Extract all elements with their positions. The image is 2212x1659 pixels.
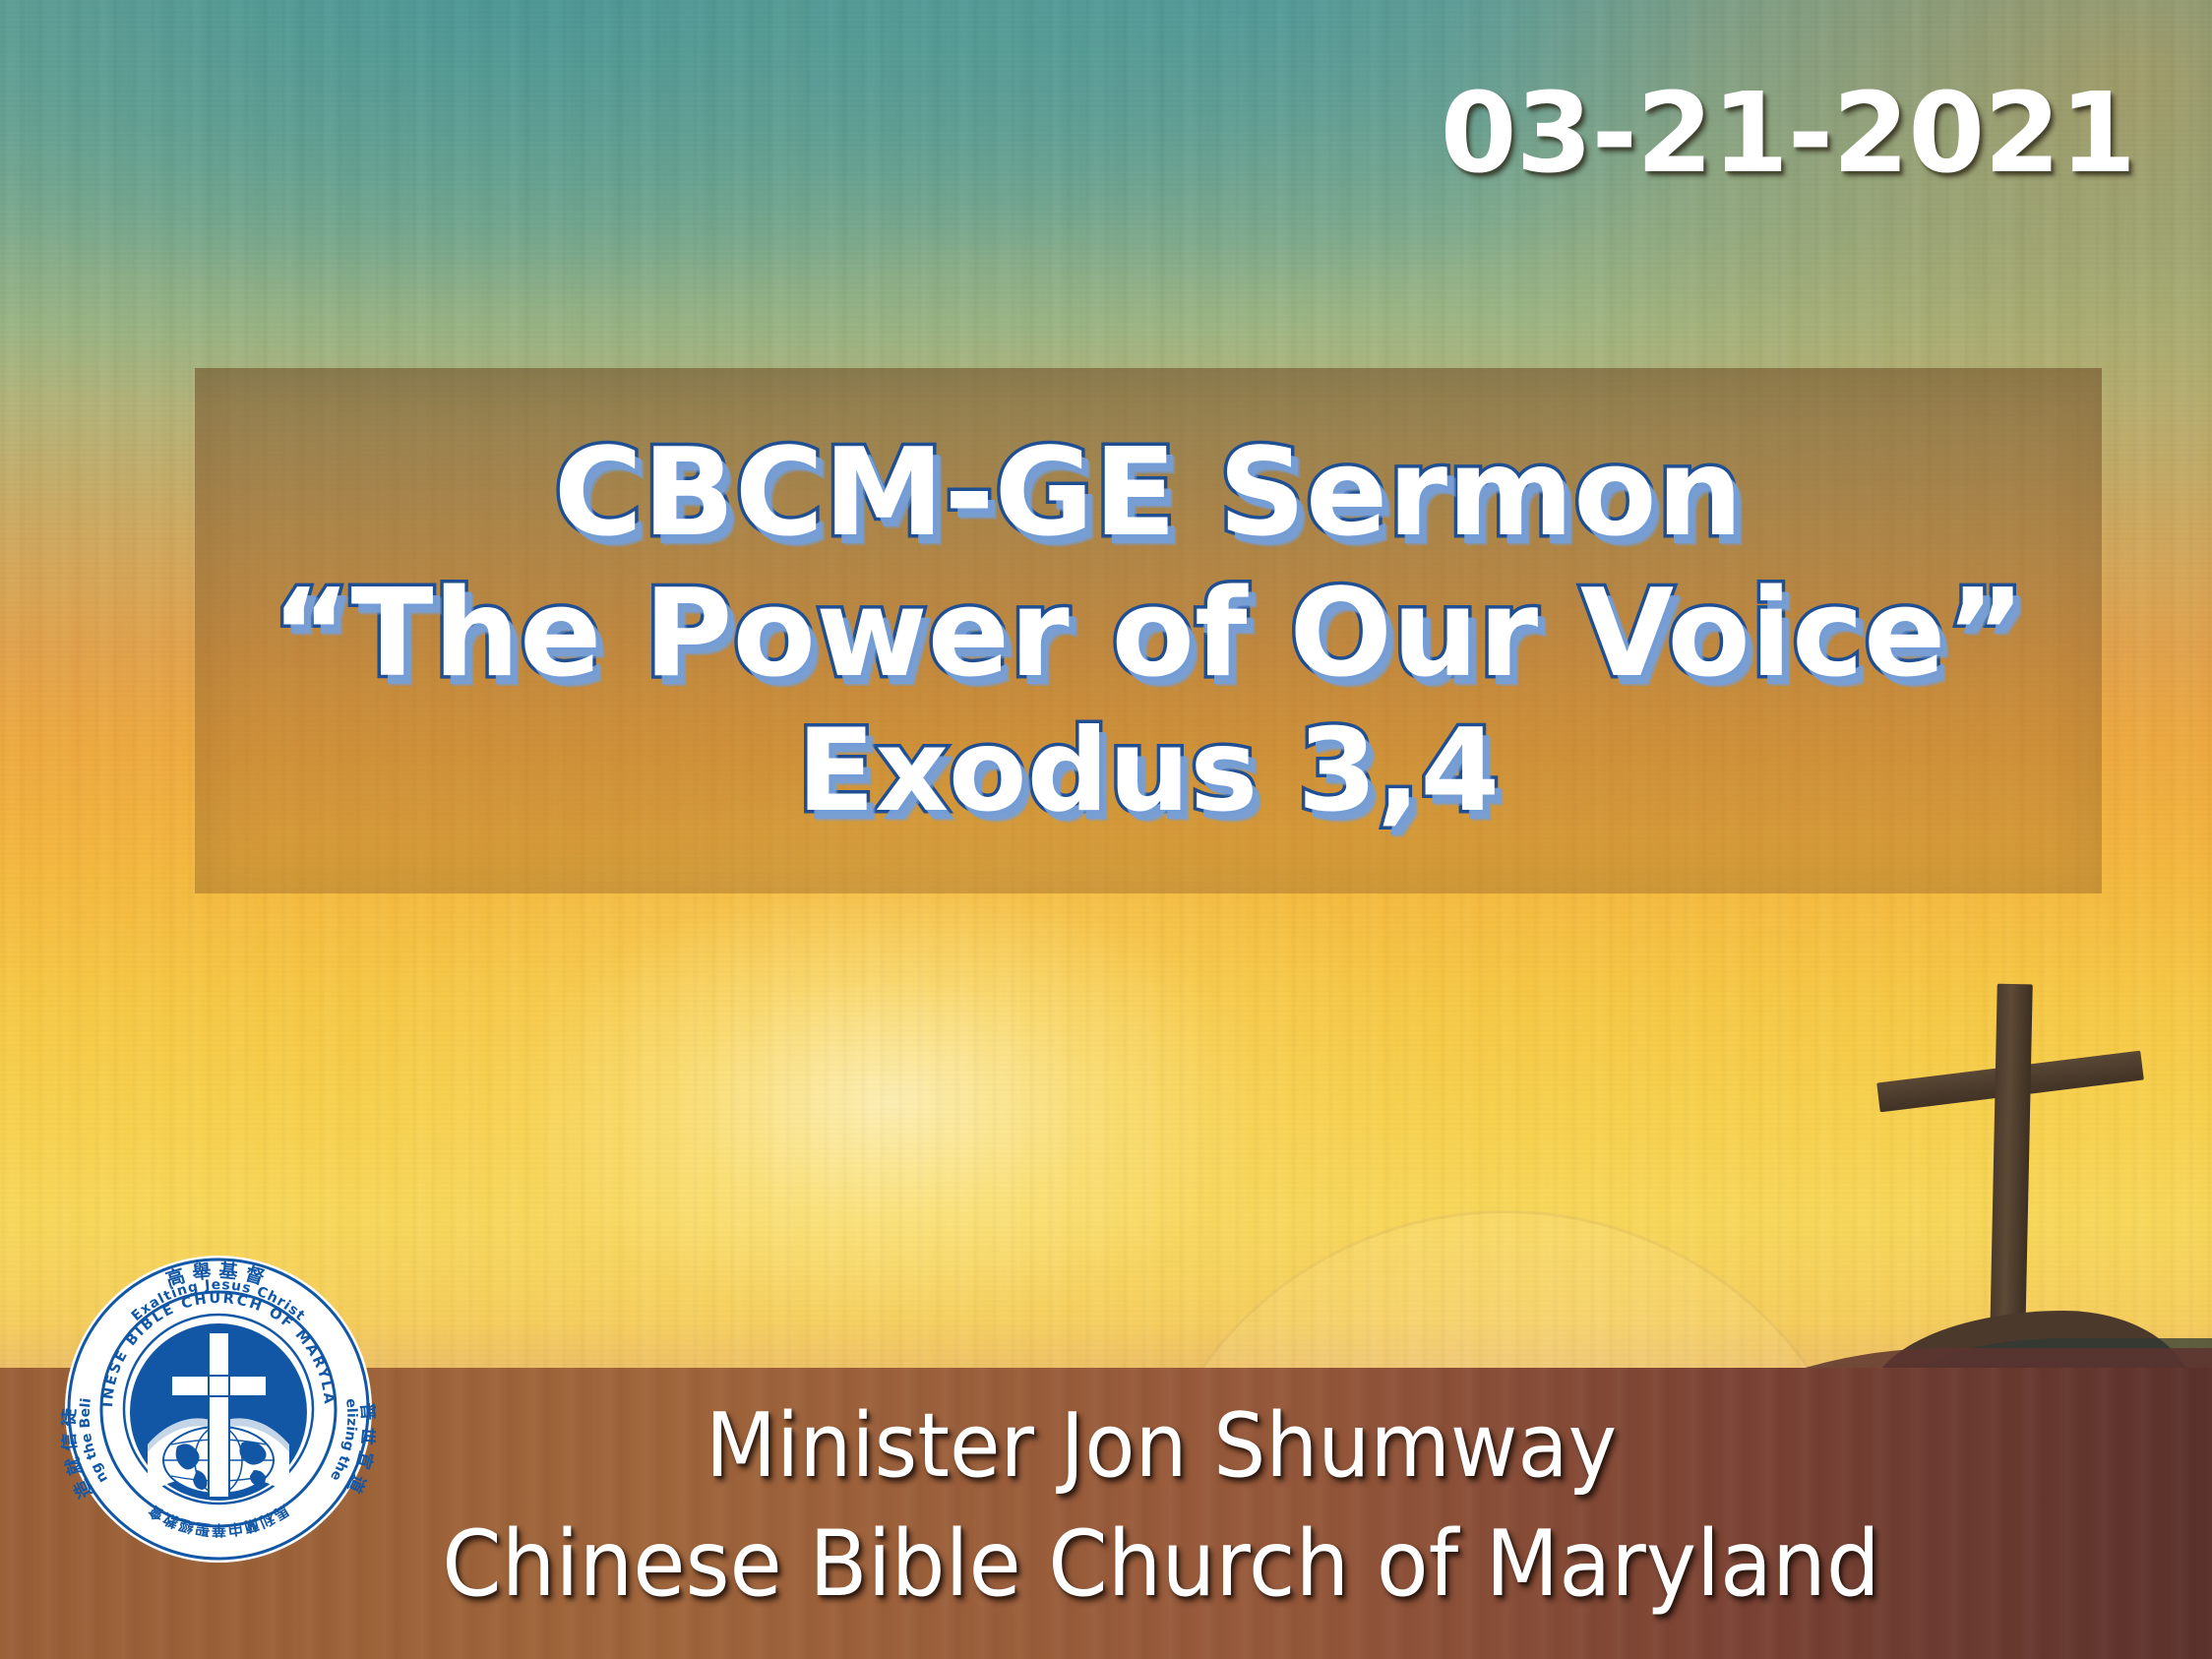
logo-cross-upright — [209, 1332, 229, 1498]
title-box: CBCM-GE Sermon “The Power of Our Voice” … — [195, 368, 2102, 893]
sermon-title-slide: 03-21-2021 CBCM-GE Sermon “The Power of … — [0, 0, 2212, 1659]
organization-name: Chinese Bible Church of Maryland — [384, 1511, 1939, 1618]
footer-text: Minister Jon Shumway Chinese Bible Churc… — [325, 1395, 1997, 1618]
sermon-date: 03-21-2021 — [1279, 77, 2135, 193]
scripture-reference: Exodus 3,4 — [797, 714, 1500, 829]
sermon-title: “The Power of Our Voice” — [272, 574, 2025, 695]
sermon-series-title: CBCM-GE Sermon — [554, 433, 1743, 554]
speaker-name: Minister Jon Shumway — [384, 1395, 1939, 1498]
logo-cross-crossbeam — [171, 1376, 267, 1396]
church-logo: 高舉基督 Exalting Jesus Christ CHINESE BIBLE… — [61, 1252, 376, 1567]
